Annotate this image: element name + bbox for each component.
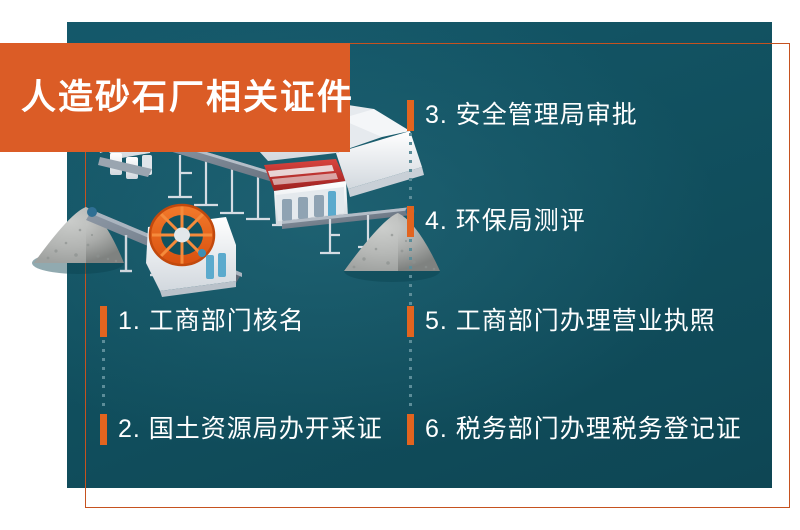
list-item-label: 3. 安全管理局审批 [425, 103, 638, 128]
list-item-2: 2. 国土资源局办开采证 [100, 414, 383, 445]
poster-root: 1. 工商部门核名 2. 国土资源局办开采证 3. 安全管理局审批 4. 环保局… [0, 0, 800, 530]
vibrating-screen [264, 159, 348, 225]
dotted-connector-left [102, 340, 105, 412]
list-item-label: 1. 工商部门核名 [118, 309, 305, 334]
list-item-label: 6. 税务部门办理税务登记证 [425, 417, 742, 442]
list-item-1: 1. 工商部门核名 [100, 306, 305, 337]
list-item-6: 6. 税务部门办理税务登记证 [407, 414, 742, 445]
list-item-label: 2. 国土资源局办开采证 [118, 417, 383, 442]
list-item-3: 3. 安全管理局审批 [407, 100, 638, 131]
orange-marker-icon [407, 306, 414, 337]
wheel-sand-washer [146, 205, 236, 297]
orange-marker-icon [100, 414, 107, 445]
orange-marker-icon [407, 414, 414, 445]
list-item-label: 4. 环保局测评 [425, 209, 586, 234]
dotted-connector-right-2 [409, 239, 412, 305]
orange-marker-icon [407, 206, 414, 237]
dotted-connector-right-3 [409, 340, 412, 412]
dotted-connector-right-1 [409, 133, 412, 205]
orange-marker-icon [100, 306, 107, 337]
title-banner: 人造砂石厂相关证件 [0, 43, 350, 152]
list-item-label: 5. 工商部门办理营业执照 [425, 309, 716, 334]
orange-marker-icon [407, 100, 414, 131]
gravel-pile-left [32, 207, 124, 274]
page-title: 人造砂石厂相关证件 [0, 80, 354, 115]
list-item-5: 5. 工商部门办理营业执照 [407, 306, 716, 337]
list-item-4: 4. 环保局测评 [407, 206, 586, 237]
